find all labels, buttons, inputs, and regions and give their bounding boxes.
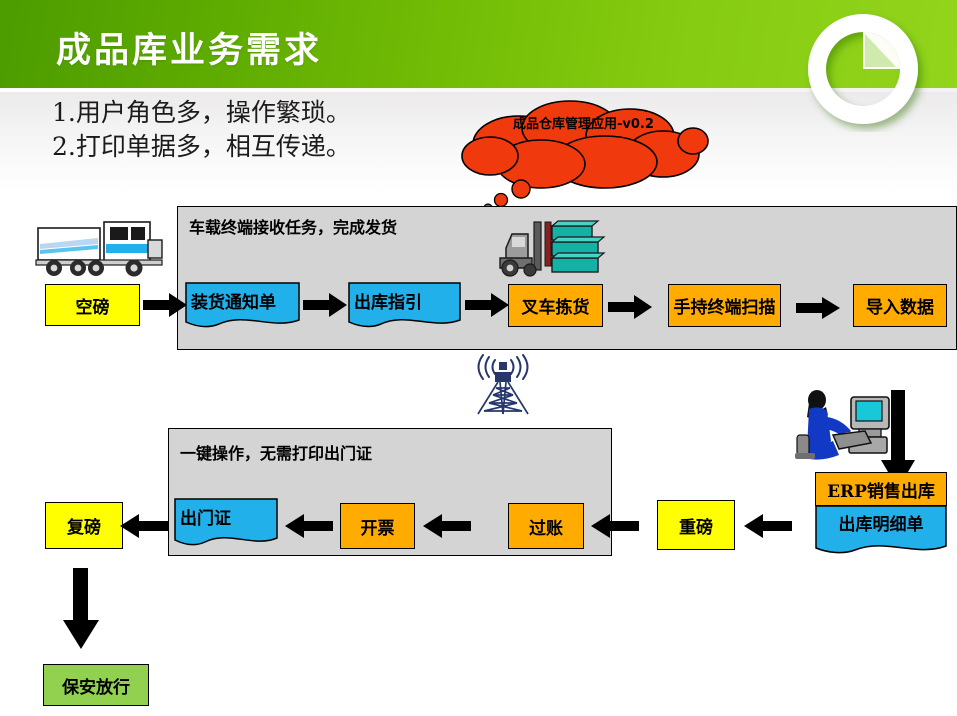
arrow-left-1 <box>120 513 168 539</box>
top-flow-panel-label: 车载终端接收任务，完成发货 <box>189 214 397 238</box>
node-chukumingxidan[interactable]: 出库明细单 <box>815 505 947 559</box>
node-chukuzhiyin[interactable]: 出库指引 <box>348 282 461 332</box>
node-zhuanghuotongzhidan[interactable]: 装货通知单 <box>185 282 300 332</box>
slide-canvas: 成品库业务需求 1.用户角色多，操作繁琐。 2.打印单据多，相互传递。 <box>0 0 957 716</box>
arrow-left-4 <box>591 513 639 539</box>
node-label: 出库指引 <box>348 288 467 313</box>
page-title: 成品库业务需求 <box>56 22 322 73</box>
node-security-release[interactable]: 保安放行 <box>43 664 149 706</box>
node-guozhang[interactable]: 过账 <box>508 503 584 549</box>
node-zhongbang[interactable]: 重磅 <box>657 500 735 550</box>
arrow-left-3 <box>423 513 471 539</box>
antenna-tower-icon <box>462 354 544 416</box>
bullet-item-1: 1.用户角色多，操作繁琐。 <box>52 96 472 130</box>
forklift-icon <box>498 218 618 280</box>
truck-icon <box>30 218 180 280</box>
node-label: 装货通知单 <box>185 288 306 313</box>
cloud-callout-text: 成品仓库管理应用-v0.2 <box>513 116 693 134</box>
node-label: 出门证 <box>174 504 284 529</box>
node-chumenzheng[interactable]: 出门证 <box>174 498 278 550</box>
node-label: 出库明细单 <box>815 510 947 535</box>
arrow-right-2 <box>303 292 347 318</box>
arrow-left-5 <box>744 513 792 539</box>
node-daorushuju[interactable]: 导入数据 <box>853 284 947 327</box>
arrow-right-5 <box>796 296 840 320</box>
bullet-list: 1.用户角色多，操作繁琐。 2.打印单据多，相互传递。 <box>52 96 472 164</box>
node-erp-sales-outbound[interactable]: ERP销售出库 <box>815 472 947 506</box>
arrow-down-to-exit <box>62 568 100 650</box>
node-shouchizhongduansaomiao[interactable]: 手持终端扫描 <box>668 284 781 327</box>
node-fubang[interactable]: 复磅 <box>45 502 123 549</box>
node-chachejianhuo[interactable]: 叉车拣货 <box>508 284 603 327</box>
pie-chart-logo-icon <box>795 6 931 132</box>
node-kongbang[interactable]: 空磅 <box>45 284 140 326</box>
node-kaipiao[interactable]: 开票 <box>340 503 415 549</box>
cloud-callout: 成品仓库管理应用-v0.2 <box>455 96 710 206</box>
arrow-right-3 <box>465 292 509 318</box>
bullet-item-2: 2.打印单据多，相互传递。 <box>52 130 472 164</box>
arrow-right-4 <box>608 294 652 320</box>
arrow-right-1 <box>143 292 187 318</box>
arrow-left-2 <box>285 513 333 539</box>
bottom-flow-panel-label: 一键操作，无需打印出门证 <box>180 440 372 464</box>
